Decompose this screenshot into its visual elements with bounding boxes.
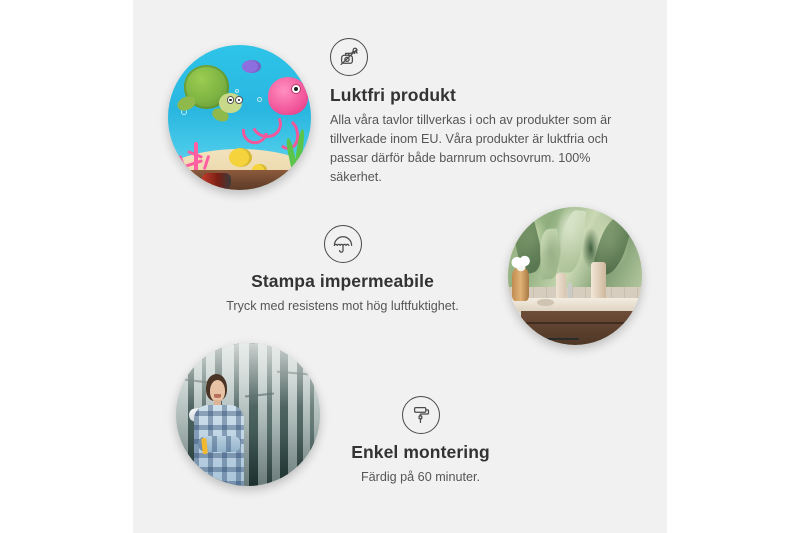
face: [210, 380, 225, 403]
bubble-icon: [257, 97, 262, 102]
turtle-eye: [227, 96, 235, 104]
waterproof-text: Stampa impermeabile Tryck med resistens …: [215, 225, 470, 316]
underwater-cartoon-mural-circle: [168, 45, 311, 190]
octopus-head: [268, 77, 308, 115]
bathroom-jar: [556, 273, 565, 301]
promo-infographic: Luktfri produkt Alla våra tavlor tillver…: [0, 0, 800, 533]
cabinet-handle: [615, 337, 620, 343]
easy-install-icon-row: [313, 396, 528, 434]
wood-vanity-cabinet: [521, 311, 642, 346]
coral: [178, 135, 215, 173]
woman-decorator: [185, 372, 266, 486]
waterproof-title: Stampa impermeabile: [215, 271, 470, 293]
easy-install-body: Färdig på 60 minuter.: [313, 468, 528, 487]
bathroom-scene: [508, 207, 642, 345]
odorless-text: Luktfri produkt Alla våra tavlor tillver…: [330, 38, 630, 186]
vase: [512, 268, 529, 301]
umbrella-icon: [324, 225, 362, 263]
odorless-title: Luktfri produkt: [330, 85, 630, 107]
purple-fish: [242, 60, 261, 73]
turtle-flipper: [175, 94, 197, 114]
turtle-eye: [235, 96, 243, 104]
drawer-handle: [547, 338, 580, 340]
wood-floor: [179, 170, 311, 190]
easy-install-title: Enkel montering: [313, 442, 528, 464]
easy-install-text: Enkel montering Färdig på 60 minuter.: [313, 396, 528, 487]
woman-paint-roller-forest-circle: [176, 343, 320, 486]
waterproof-icon-row: [215, 225, 470, 263]
odorless-body: Alla våra tavlor tillverkas i och av pro…: [330, 111, 630, 187]
toy-object: [202, 173, 231, 189]
waterproof-body: Tryck med resistens mot hög luftfuktighe…: [215, 297, 470, 316]
paint-roller-icon: [402, 396, 440, 434]
yellow-fish: [229, 148, 252, 167]
odorless-icon-row: [330, 38, 630, 76]
white-flowers: [509, 253, 532, 272]
smile: [214, 394, 221, 397]
underwater-scene: [168, 45, 311, 190]
forest-wallpaper-scene: [176, 343, 320, 486]
no-fragrance-spray-icon: [330, 38, 368, 76]
bathroom-botanical-wallpaper-circle: [508, 207, 642, 345]
bubble-icon: [235, 89, 239, 93]
bathroom-jar: [591, 262, 606, 301]
